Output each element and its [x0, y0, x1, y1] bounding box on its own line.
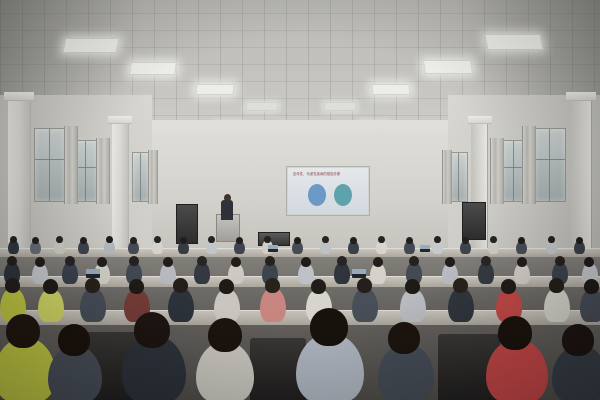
ceiling-light-panel — [324, 102, 357, 111]
attendee-head — [481, 256, 491, 266]
attendee-head — [405, 279, 420, 294]
projection-screen: 遗传性、代谢性疾病的基因诊断 — [286, 166, 370, 216]
ceiling-light-panel — [129, 62, 177, 75]
ceiling-light-panel — [484, 34, 543, 50]
curtain — [148, 150, 158, 204]
attendee-head — [462, 237, 469, 244]
attendee-head — [584, 279, 599, 294]
laptop — [420, 245, 430, 252]
attendee-head — [388, 322, 420, 354]
attendee-head — [219, 279, 234, 294]
attendee-head — [231, 257, 241, 267]
presenter — [221, 200, 233, 220]
wall-pillar-capital — [566, 92, 596, 101]
attendee-head — [97, 257, 107, 267]
attendee-head — [197, 256, 207, 266]
attendee-head — [130, 237, 137, 244]
ceiling-light-panel — [195, 84, 234, 95]
attendee-head — [357, 278, 372, 293]
attendee-head — [453, 278, 468, 293]
attendee-head — [65, 256, 75, 266]
wall-pillar-capital — [468, 116, 492, 124]
attendee-head — [310, 308, 348, 346]
attendee-head — [7, 256, 17, 266]
attendee-head — [85, 278, 100, 293]
attendee-head — [294, 237, 301, 244]
attendee-head — [43, 279, 58, 294]
slide-shape-ellipse-teal — [334, 184, 352, 206]
attendee-head — [301, 257, 311, 267]
attendee-head — [10, 236, 17, 243]
window — [450, 152, 468, 202]
attendee-head — [6, 314, 40, 348]
attendee-head — [378, 236, 385, 243]
attendee-head — [406, 237, 413, 244]
attendee-head — [350, 237, 357, 244]
attendee-head — [80, 237, 87, 244]
ceiling-light-panel — [246, 102, 279, 111]
lecture-hall-photo: 遗传性、代谢性疾病的基因诊断 — [0, 0, 600, 400]
audience-row-front — [0, 312, 600, 400]
attendee-head — [373, 257, 383, 267]
attendee-head — [208, 318, 242, 352]
curtain — [96, 138, 110, 204]
attendee-head — [129, 256, 139, 266]
attendee-head — [236, 237, 243, 244]
attendee-head — [35, 257, 45, 267]
attendee-head — [173, 278, 188, 293]
attendee-head — [208, 236, 215, 243]
ceiling-light-panel — [371, 84, 410, 95]
attendee-head — [501, 279, 516, 294]
attendee-head — [562, 324, 594, 356]
attendee-head — [445, 257, 455, 267]
attendee-head — [5, 278, 20, 293]
ceiling-light-panel — [423, 60, 473, 74]
attendee-head — [409, 256, 419, 266]
attendee-head — [517, 257, 527, 267]
curtain — [490, 138, 504, 204]
attendee-head — [434, 236, 441, 243]
attendee-head — [106, 236, 113, 243]
attendee-head — [555, 256, 565, 266]
attendee-head — [322, 236, 329, 243]
attendee-head — [163, 257, 173, 267]
attendee-head — [549, 278, 564, 293]
ceiling-light-panel — [62, 38, 119, 53]
attendee-head — [129, 279, 144, 294]
attendee-head — [518, 237, 525, 244]
attendee-head — [154, 236, 161, 243]
attendee-head — [56, 236, 63, 243]
attendee-head — [490, 236, 497, 243]
slide-shape-ellipse-blue — [308, 184, 326, 206]
attendee-head — [180, 237, 187, 244]
attendee-head — [58, 324, 90, 356]
window — [34, 128, 66, 202]
attendee-head — [548, 236, 555, 243]
attendee-head — [576, 237, 583, 244]
attendee-head — [265, 256, 275, 266]
wall-pillar-capital — [108, 116, 132, 124]
slide-heading: 遗传性、代谢性疾病的基因诊断 — [293, 171, 340, 176]
wall-pillar-capital — [4, 92, 34, 101]
window — [534, 128, 566, 202]
projection-slide: 遗传性、代谢性疾病的基因诊断 — [288, 168, 368, 214]
attendee-head — [264, 236, 271, 243]
attendee-head — [584, 257, 594, 267]
curtain — [522, 126, 536, 204]
attendee-head — [32, 237, 39, 244]
laptop — [268, 245, 278, 252]
curtain — [442, 150, 452, 204]
attendee-head — [337, 256, 347, 266]
attendee-head — [311, 279, 326, 294]
curtain — [64, 126, 78, 204]
attendee-head — [134, 312, 170, 348]
attendee-head — [498, 316, 532, 350]
presenter-head — [224, 194, 231, 202]
attendee-head — [265, 278, 280, 293]
